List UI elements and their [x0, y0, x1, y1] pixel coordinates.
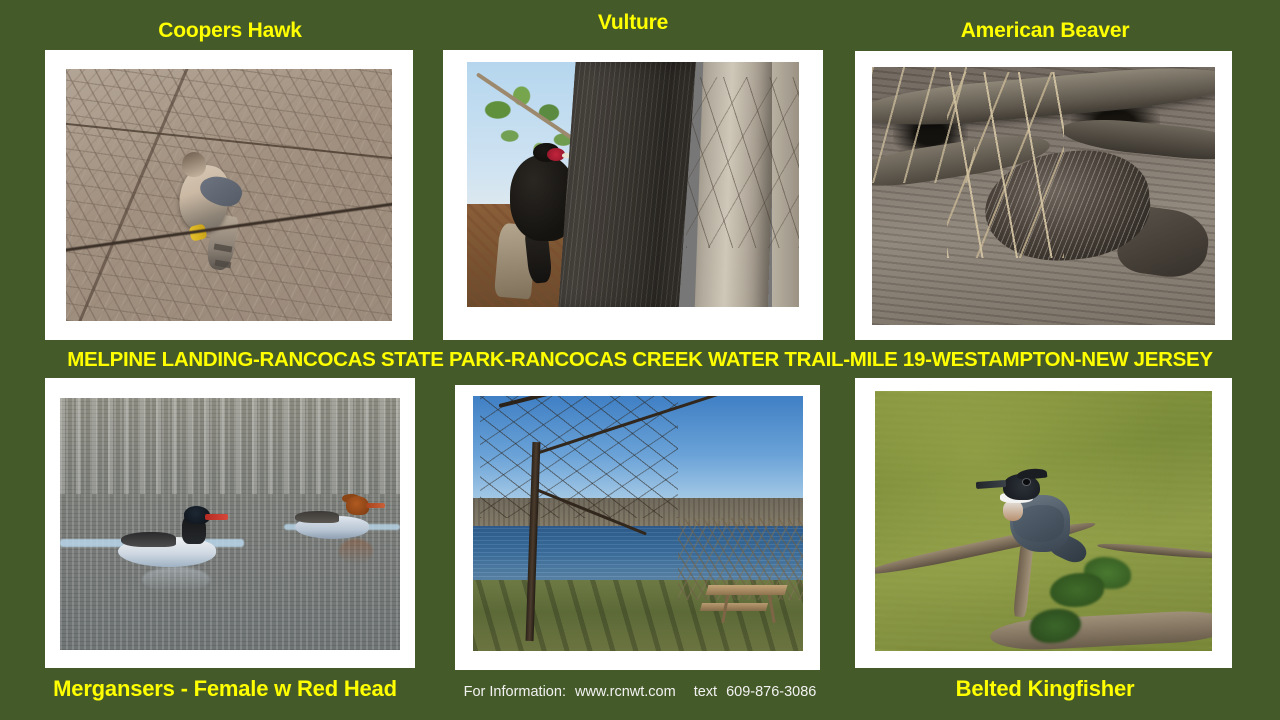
- water-sheen: [60, 398, 400, 494]
- reflection: [339, 539, 373, 564]
- photo-caption-american-beaver: American Beaver: [855, 20, 1235, 41]
- photo-mergansers: [60, 398, 400, 650]
- photo-belted-kingfisher: [875, 391, 1212, 651]
- footer-text-label: text: [694, 684, 717, 700]
- footer-label: For Information:: [464, 684, 566, 700]
- photo-collage-slide: Coopers Hawk Vulture American Beaver: [0, 0, 1280, 720]
- merganser-male-bill: [205, 514, 229, 520]
- photo-frame-belted-kingfisher[interactable]: [855, 378, 1232, 668]
- photo-frame-mergansers[interactable]: [45, 378, 415, 668]
- photo-caption-mergansers: Mergansers - Female w Red Head: [40, 678, 410, 700]
- merganser-male-back: [121, 532, 175, 547]
- merganser-female-bill: [366, 503, 385, 508]
- photo-frame-vulture[interactable]: [443, 50, 823, 340]
- photo-frame-coopers-hawk[interactable]: [45, 50, 413, 340]
- twigs: [686, 77, 799, 249]
- contact-footer: For Information:www.rcnwt.comtext609-876…: [440, 684, 840, 700]
- bark-texture: [557, 62, 695, 307]
- picnic-table-bench: [700, 603, 768, 611]
- reflection: [142, 567, 210, 592]
- hawk-head: [182, 152, 206, 177]
- photo-coopers-hawk: [66, 69, 392, 321]
- footer-phone[interactable]: 609-876-3086: [726, 684, 816, 700]
- photo-river-landscape: [473, 396, 803, 651]
- photo-caption-vulture: Vulture: [443, 12, 823, 33]
- footer-website[interactable]: www.rcnwt.com: [575, 684, 676, 700]
- photo-caption-coopers-hawk: Coopers Hawk: [45, 20, 415, 41]
- photo-vulture: [467, 62, 799, 307]
- picnic-table-top: [706, 585, 788, 595]
- photo-frame-american-beaver[interactable]: [855, 51, 1232, 340]
- photo-caption-belted-kingfisher: Belted Kingfisher: [855, 678, 1235, 700]
- merganser-female-back: [295, 511, 339, 522]
- kingfisher-breast: [1003, 500, 1023, 521]
- photo-frame-river-landscape[interactable]: [455, 385, 820, 670]
- dry-reeds: [872, 67, 975, 183]
- photo-american-beaver: [872, 67, 1215, 325]
- location-banner: MELPINE LANDING-RANCOCAS STATE PARK-RANC…: [0, 348, 1280, 372]
